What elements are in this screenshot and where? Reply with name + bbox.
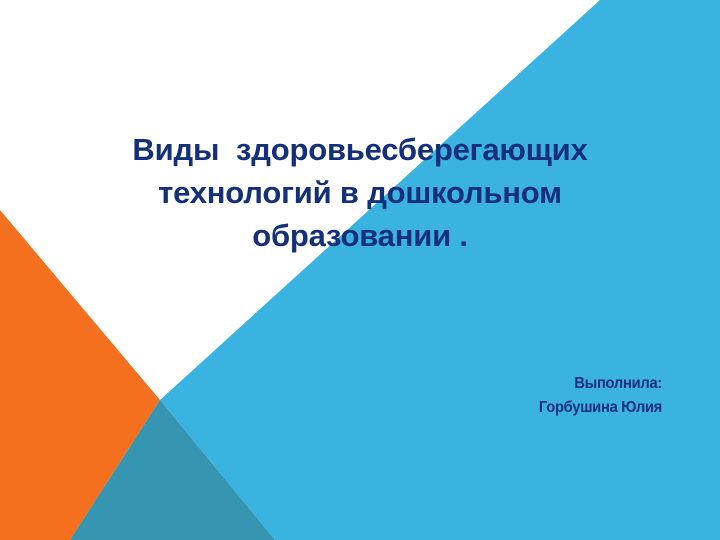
author-subtitle: Выполнила: Горбушина Юлия xyxy=(342,372,662,420)
page-title: Виды здоровьесберегающих технологий в до… xyxy=(72,128,648,257)
title-line-3: образовании . xyxy=(72,214,648,257)
title-line-1: Виды здоровьесберегающих xyxy=(72,128,648,171)
subtitle-line-name: Горбушина Юлия xyxy=(368,396,662,420)
title-slide: Виды здоровьесберегающих технологий в до… xyxy=(0,0,720,540)
title-line-2: технологий в дошкольном xyxy=(72,171,648,214)
subtitle-line-role: Выполнила: xyxy=(368,372,662,396)
slide-content: Виды здоровьесберегающих технологий в до… xyxy=(0,0,720,540)
